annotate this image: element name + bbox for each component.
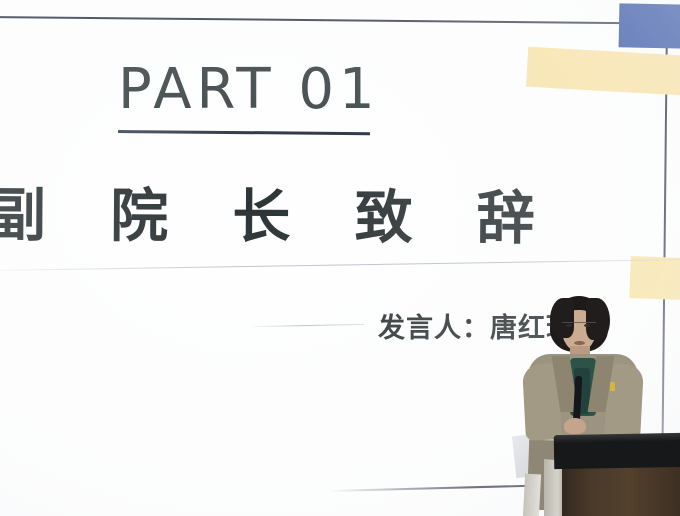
part-label: PART 01 [118,62,380,118]
speaker-hair-right [586,298,610,340]
screen-top-edge [0,16,680,25]
page-title: 副 院 长 致 辞 [0,186,557,247]
speaker-hand [564,418,586,434]
speaker-mouth [574,341,585,345]
speaker-badge-icon [610,382,615,391]
speaker-hair-left [550,298,574,338]
speaker-leader-line-icon [252,324,364,327]
podium-body [562,464,680,516]
part-underline [118,130,370,135]
part-block: PART 01 [118,62,380,133]
speaker-eye-left [566,324,572,327]
yellow-band-top-icon [526,47,680,98]
blue-rectangle-icon [619,3,680,48]
heading-divider [0,259,680,271]
podium-leg [519,474,541,516]
screenshot-stage: PART 01 副 院 长 致 辞 发言人：唐红珍 [0,0,680,516]
speaker-at-podium [498,284,680,516]
speaker-eye-right [584,324,590,327]
